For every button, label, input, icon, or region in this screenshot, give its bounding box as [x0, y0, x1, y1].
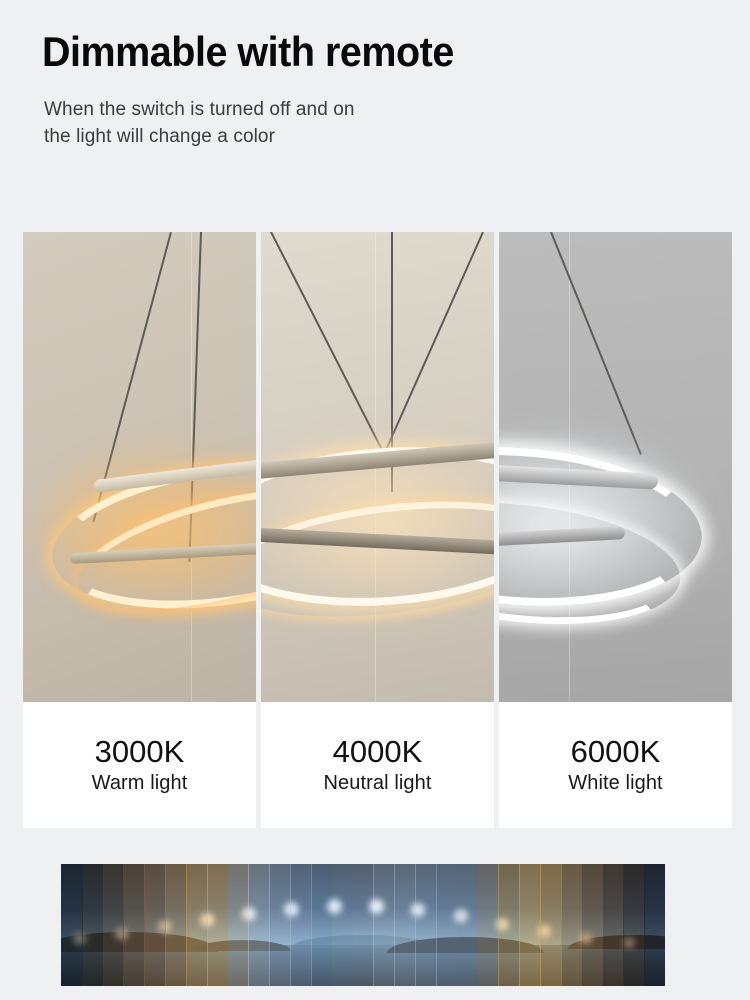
comparison-panel-4000k[interactable]: 4000K Neutral light — [261, 232, 494, 828]
landscape-color-slice — [103, 864, 125, 986]
landscape-color-slice — [290, 864, 312, 986]
landscape-color-slice — [228, 864, 250, 986]
landscape-color-slice — [623, 864, 645, 986]
landscape-color-slice — [248, 864, 270, 986]
color-temperature-comparison: 3000K Warm light 4000K Neutral light — [23, 232, 732, 828]
lamp-photo-white — [499, 232, 732, 702]
label-card-4000k: 4000K Neutral light — [261, 702, 494, 828]
lamp-photo-warm — [23, 232, 256, 702]
label-card-3000k: 3000K Warm light — [23, 702, 256, 828]
landscape-color-slice — [561, 864, 583, 986]
comparison-panel-3000k[interactable]: 3000K Warm light — [23, 232, 256, 828]
subtitle-line-1: When the switch is turned off and on — [44, 96, 355, 123]
landscape-color-slice — [436, 864, 458, 986]
label-card-6000k: 6000K White light — [499, 702, 732, 828]
landscape-color-slice — [269, 864, 291, 986]
kelvin-value: 3000K — [95, 736, 185, 769]
landscape-color-slice — [61, 864, 83, 986]
landscape-color-slice — [332, 864, 354, 986]
landscape-color-slice — [311, 864, 333, 986]
landscape-color-slice — [394, 864, 416, 986]
comparison-panel-6000k[interactable]: 6000K White light — [499, 232, 732, 828]
landscape-color-slice — [353, 864, 375, 986]
landscape-color-slice — [519, 864, 541, 986]
pendant-lamp-neutral — [261, 232, 494, 702]
landscape-color-slice — [415, 864, 437, 986]
landscape-color-slice — [165, 864, 187, 986]
landscape-color-slice — [144, 864, 166, 986]
landscape-color-slice — [373, 864, 395, 986]
landscape-color-slice — [82, 864, 104, 986]
landscape-color-slice — [123, 864, 145, 986]
light-name: White light — [568, 772, 662, 794]
landscape-color-slice — [457, 864, 479, 986]
pendant-lamp-white — [499, 232, 732, 702]
landscape-color-slice — [498, 864, 520, 986]
kelvin-value: 6000K — [571, 736, 661, 769]
landscape-color-slice — [540, 864, 562, 986]
color-temperature-landscape-strip — [61, 864, 665, 986]
landscape-color-slice — [603, 864, 625, 986]
pendant-lamp-warm — [23, 232, 256, 702]
landscape-color-slice — [644, 864, 665, 986]
landscape-color-slice — [186, 864, 208, 986]
page-title: Dimmable with remote — [42, 28, 454, 76]
light-name: Warm light — [92, 772, 188, 794]
landscape-color-slice — [478, 864, 500, 986]
lamp-photo-neutral — [261, 232, 494, 702]
light-name: Neutral light — [323, 772, 431, 794]
landscape-color-slice — [582, 864, 604, 986]
kelvin-value: 4000K — [333, 736, 423, 769]
subtitle-line-2: the light will change a color — [44, 123, 355, 150]
page-subtitle: When the switch is turned off and on the… — [44, 96, 355, 150]
landscape-color-slice — [207, 864, 229, 986]
